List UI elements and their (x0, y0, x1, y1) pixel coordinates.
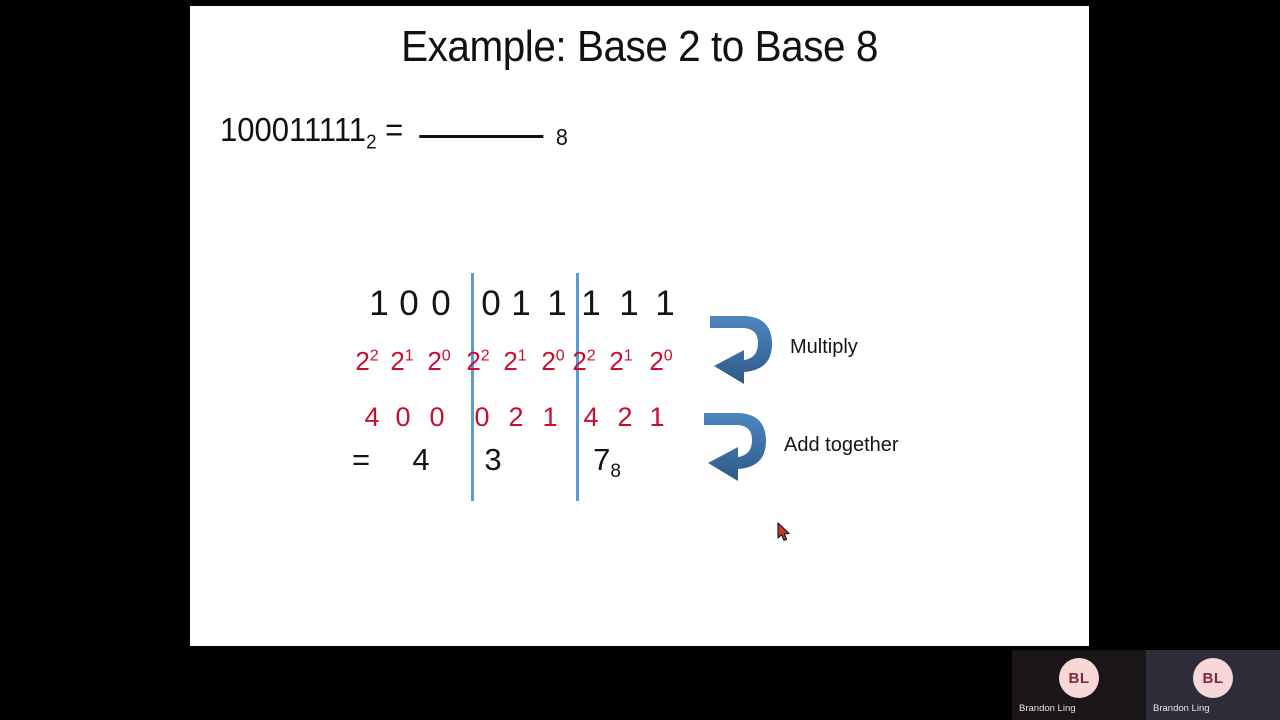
participant-tile[interactable]: BL Brandon Ling (1146, 650, 1280, 720)
power-term: 22 (567, 348, 601, 374)
product-value: 4 (578, 404, 604, 431)
equals-sign: = (385, 111, 403, 148)
uturn-arrow-left-icon (706, 310, 778, 384)
product-value: 0 (390, 404, 416, 431)
result-digit: 4 (408, 444, 434, 475)
conversion-work-area: 1 0 0 0 1 1 1 1 1 22 21 20 22 21 20 22 2… (350, 266, 890, 511)
page-title: Example: Base 2 to Base 8 (226, 22, 1053, 72)
power-term: 21 (385, 348, 419, 374)
binary-digit: 0 (478, 286, 504, 321)
binary-digit: 1 (652, 286, 678, 321)
binary-digit: 1 (578, 286, 604, 321)
product-value: 1 (537, 404, 563, 431)
power-term: 21 (498, 348, 532, 374)
uturn-arrow-left-icon (700, 407, 772, 481)
equation-number: 100011111 (220, 111, 366, 148)
power-term: 22 (461, 348, 495, 374)
binary-digit: 1 (616, 286, 642, 321)
product-value: 2 (612, 404, 638, 431)
group-separator-line-1 (471, 273, 474, 501)
product-value: 0 (424, 404, 450, 431)
product-value: 0 (469, 404, 495, 431)
result-equals-sign: = (348, 444, 374, 475)
callout-label-add-together: Add together (784, 434, 899, 457)
answer-base-label: 8 (556, 124, 568, 150)
participant-tile[interactable]: BL Brandon Ling (1012, 650, 1146, 720)
power-term: 22 (350, 348, 384, 374)
result-digit: 78 (587, 444, 627, 481)
callout-label-multiply: Multiply (790, 336, 858, 359)
power-term: 20 (536, 348, 570, 374)
participant-name: Brandon Ling (1019, 703, 1076, 714)
power-term: 20 (644, 348, 678, 374)
presentation-slide: Example: Base 2 to Base 8 1000111112 = 8… (190, 6, 1089, 646)
equation-prompt: 1000111112 = 8 (220, 111, 568, 155)
product-value: 4 (359, 404, 385, 431)
answer-blank (419, 134, 543, 138)
power-term: 21 (604, 348, 638, 374)
binary-digit: 1 (544, 286, 570, 321)
participant-filmstrip: BL Brandon Ling BL Brandon Ling (1012, 650, 1280, 720)
avatar: BL (1059, 658, 1099, 698)
avatar: BL (1193, 658, 1233, 698)
binary-digit: 1 (508, 286, 534, 321)
equation-number-subscript: 2 (366, 132, 376, 154)
binary-digit: 1 (366, 286, 392, 321)
binary-digit: 0 (428, 286, 454, 321)
product-value: 1 (644, 404, 670, 431)
product-value: 2 (503, 404, 529, 431)
power-term: 20 (422, 348, 456, 374)
screen-share-view: Example: Base 2 to Base 8 1000111112 = 8… (0, 0, 1280, 720)
participant-name: Brandon Ling (1153, 703, 1210, 714)
binary-digit: 0 (396, 286, 422, 321)
result-digit: 3 (480, 444, 506, 475)
